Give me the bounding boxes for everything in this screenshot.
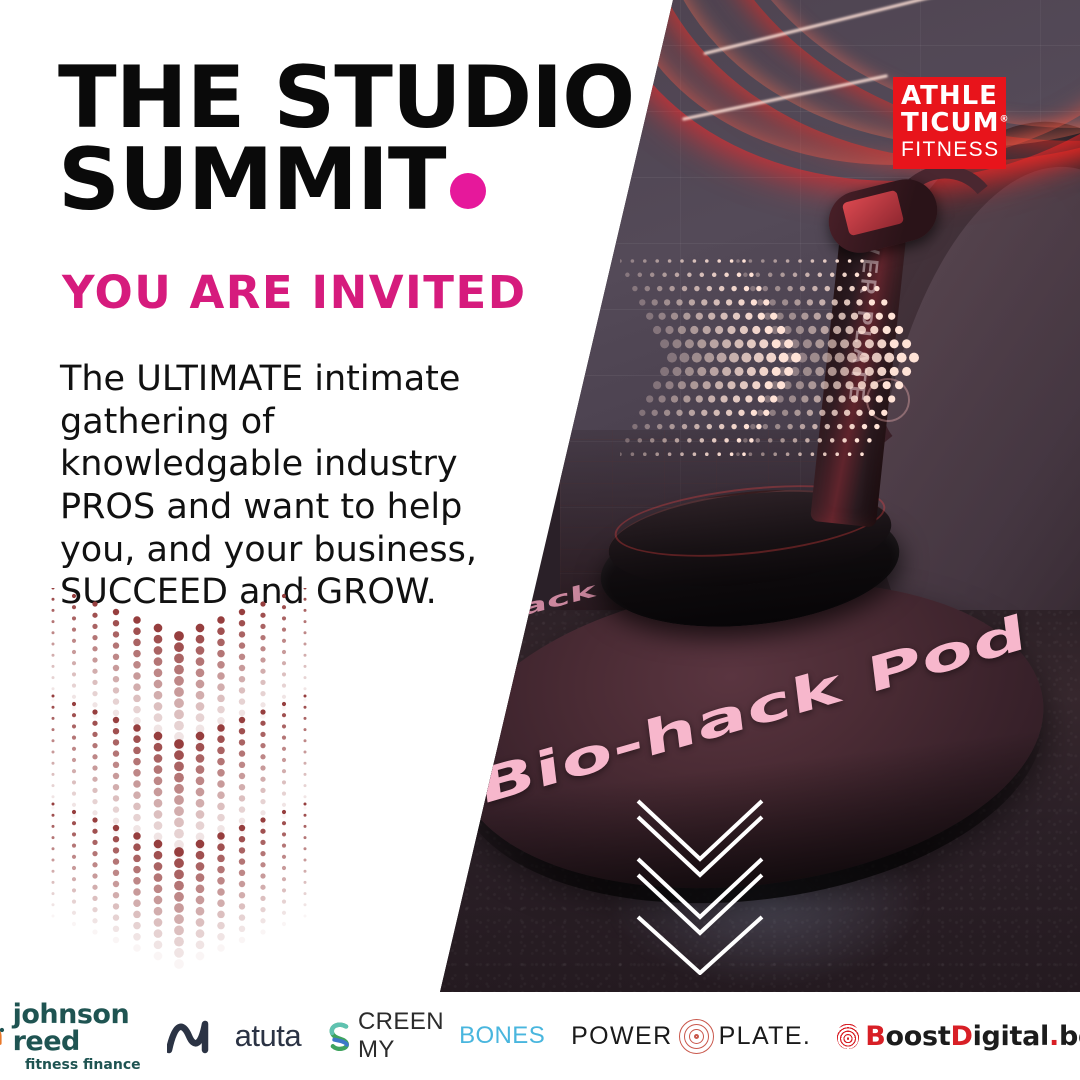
logo-screen-my-bones[interactable]: CREEN MY BONES	[327, 1008, 545, 1064]
boostdigital-oost: oost	[886, 1021, 951, 1052]
boostdigital-name: BoostDigital.be	[865, 1021, 1080, 1052]
title-line-2-wrap: SUMMIT	[58, 140, 658, 222]
johnson-reed-text: johnson reed fitness finance	[13, 1001, 141, 1072]
johnson-reed-name: johnson reed	[13, 1001, 141, 1055]
athleticum-line1: ATHLE	[901, 83, 998, 110]
johnson-reed-tagline: fitness finance	[13, 1058, 141, 1072]
boostdigital-b: B	[865, 1021, 885, 1052]
screen-my-bones-mark-icon	[327, 1015, 352, 1057]
outline-chevron-down-icon	[630, 795, 770, 975]
logo-johnson-reed[interactable]: johnson reed fitness finance	[0, 1001, 141, 1072]
poster-canvas: hack Pod Bio-hack Pod POWER PLATE ATHLE …	[0, 0, 1080, 1080]
halftone-chevron-pattern-icon	[45, 588, 345, 978]
screen-my-bones-text-dark: CREEN MY	[358, 1008, 453, 1064]
boostdigital-dot: .	[1049, 1021, 1059, 1052]
subtitle: YOU ARE INVITED	[62, 266, 622, 319]
matuta-name: atuta	[235, 1018, 301, 1054]
fingerprint-icon	[837, 1023, 859, 1049]
logo-boostdigital[interactable]: BoostDigital.be	[837, 1021, 1080, 1052]
logo-matuta[interactable]: atuta	[167, 1016, 301, 1056]
athleticum-line2-text: TICUM	[901, 108, 999, 138]
power-plate-text-left: POWER	[571, 1022, 672, 1051]
boostdigital-d: D	[950, 1021, 972, 1052]
matuta-mark-icon	[167, 1016, 229, 1056]
johnson-reed-mark-icon	[0, 1020, 7, 1052]
athleticum-fitness-logo: ATHLE TICUM® FITNESS	[893, 77, 1006, 169]
power-plate-rings-icon	[679, 1019, 713, 1053]
sponsor-logo-bar: johnson reed fitness finance atuta CREEN…	[0, 992, 1080, 1080]
title-line-2: SUMMIT	[58, 130, 446, 230]
power-plate-text-right: PLATE.	[719, 1022, 812, 1051]
halftone-chevron-right-icon	[620, 255, 920, 470]
page-title: THE STUDIO SUMMIT	[58, 58, 658, 221]
logo-power-plate[interactable]: POWER PLATE.	[571, 1019, 811, 1053]
screen-my-bones-text-light: BONES	[459, 1022, 545, 1050]
registered-mark-icon: ®	[999, 114, 1008, 124]
athleticum-line3: FITNESS	[901, 138, 998, 161]
body-copy: The ULTIMATE intimate gathering of knowl…	[60, 358, 500, 614]
magenta-dot-icon	[450, 173, 486, 209]
boostdigital-igital: igital	[973, 1021, 1049, 1052]
athleticum-line2: TICUM®	[901, 110, 998, 137]
boostdigital-be: be	[1059, 1021, 1080, 1052]
